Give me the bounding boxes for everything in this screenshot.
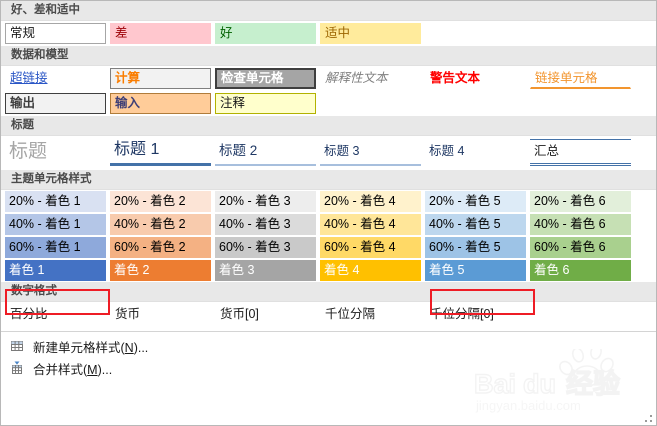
- style-good-label: 好: [215, 23, 316, 44]
- menu-new-cell-style-suffix: )...: [134, 341, 149, 355]
- cell-styles-gallery: 好、差和适中 常规 差 好 适中 数据和模型 超链接 计算 检查单元格 解释性文…: [0, 0, 657, 426]
- style-comma-0-label: 千位分隔[0]: [425, 304, 526, 325]
- section-header-good-bad-neutral: 好、差和适中: [1, 1, 656, 21]
- menu-merge-styles-accesskey: M: [87, 363, 97, 377]
- watermark-url: jingyan.baidu.com: [475, 398, 581, 413]
- style-cell-heading-3[interactable]: 标题 3: [320, 139, 421, 166]
- style-heading-4-label: 标题 4: [425, 139, 526, 166]
- style-heading-2-label: 标题 2: [215, 139, 316, 166]
- style-cell-explanatory-text[interactable]: 解释性文本: [320, 68, 421, 89]
- accent-row-2: 40% - 着色 140% - 着色 240% - 着色 340% - 着色 4…: [1, 213, 656, 236]
- accent-cell-3-5[interactable]: 60% - 着色 5: [425, 237, 526, 258]
- style-cell-bad[interactable]: 差: [110, 23, 211, 44]
- style-cell-check-cell[interactable]: 检查单元格: [215, 68, 316, 89]
- style-row-good-bad-neutral: 常规 差 好 适中: [1, 21, 656, 46]
- resize-grip[interactable]: [645, 415, 653, 423]
- style-note-label: 注释: [215, 93, 316, 114]
- style-output-label: 输出: [5, 93, 106, 114]
- accent-cell-2-1[interactable]: 40% - 着色 1: [5, 214, 106, 235]
- style-explanatory-text-label: 解释性文本: [320, 68, 421, 89]
- accent-cell-4-3[interactable]: 着色 3: [215, 260, 316, 281]
- accent-cell-2-4[interactable]: 40% - 着色 4: [320, 214, 421, 235]
- accent-row-3: 60% - 着色 160% - 着色 260% - 着色 360% - 着色 4…: [1, 236, 656, 259]
- style-total-label: 汇总: [530, 139, 631, 166]
- accent-style-grid: 20% - 着色 120% - 着色 220% - 着色 320% - 着色 4…: [1, 190, 656, 282]
- style-check-cell-label: 检查单元格: [215, 68, 316, 89]
- accent-cell-1-2[interactable]: 20% - 着色 2: [110, 191, 211, 212]
- accent-cell-4-2[interactable]: 着色 2: [110, 260, 211, 281]
- style-bad-label: 差: [110, 23, 211, 44]
- accent-cell-2-5[interactable]: 40% - 着色 5: [425, 214, 526, 235]
- style-input-label: 输入: [110, 93, 211, 114]
- accent-cell-4-1[interactable]: 着色 1: [5, 260, 106, 281]
- style-cell-heading-1[interactable]: 标题 1: [110, 139, 211, 166]
- style-cell-neutral[interactable]: 适中: [320, 23, 421, 44]
- style-calculation-label: 计算: [110, 68, 211, 89]
- style-cell-title[interactable]: 标题: [5, 139, 106, 166]
- accent-cell-2-2[interactable]: 40% - 着色 2: [110, 214, 211, 235]
- style-warning-text-label: 警告文本: [425, 68, 526, 89]
- style-cell-warning-text[interactable]: 警告文本: [425, 68, 526, 89]
- style-cell-good[interactable]: 好: [215, 23, 316, 44]
- menu-merge-styles-label: 合并样式(M)...: [33, 359, 112, 378]
- style-cell-calculation[interactable]: 计算: [110, 68, 211, 89]
- menu-merge-styles-suffix: )...: [98, 363, 113, 377]
- style-cell-linked-cell[interactable]: 链接单元格: [530, 68, 631, 89]
- style-cell-output[interactable]: 输出: [5, 93, 106, 114]
- accent-cell-3-3[interactable]: 60% - 着色 3: [215, 237, 316, 258]
- style-cell-currency-0[interactable]: 货币[0]: [215, 304, 316, 325]
- section-header-titles: 标题: [1, 116, 656, 136]
- style-cell-total[interactable]: 汇总: [530, 139, 631, 166]
- style-cell-heading-4[interactable]: 标题 4: [425, 139, 526, 166]
- style-linked-cell-label: 链接单元格: [530, 68, 631, 89]
- style-cell-hyperlink[interactable]: 超链接: [5, 68, 106, 89]
- style-normal-label: 常规: [5, 23, 106, 44]
- style-cell-input[interactable]: 输入: [110, 93, 211, 114]
- accent-cell-1-5[interactable]: 20% - 着色 5: [425, 191, 526, 212]
- menu-merge-styles-text: 合并样式(: [33, 363, 87, 377]
- style-cell-note[interactable]: 注释: [215, 93, 316, 114]
- accent-cell-1-4[interactable]: 20% - 着色 4: [320, 191, 421, 212]
- style-currency-label: 货币: [110, 304, 211, 325]
- style-cell-comma[interactable]: 千位分隔: [320, 304, 421, 325]
- style-currency-0-label: 货币[0]: [215, 304, 316, 325]
- accent-cell-3-6[interactable]: 60% - 着色 6: [530, 237, 631, 258]
- accent-cell-4-4[interactable]: 着色 4: [320, 260, 421, 281]
- accent-cell-3-1[interactable]: 60% - 着色 1: [5, 237, 106, 258]
- accent-cell-4-6[interactable]: 着色 6: [530, 260, 631, 281]
- menu-new-cell-style-label: 新建单元格样式(N)...: [33, 337, 148, 356]
- style-heading-1-label: 标题 1: [110, 139, 211, 166]
- style-heading-3-label: 标题 3: [320, 139, 421, 166]
- style-comma-label: 千位分隔: [320, 304, 421, 325]
- menu-merge-styles[interactable]: 合并样式(M)...: [1, 357, 656, 379]
- style-cell-heading-2[interactable]: 标题 2: [215, 139, 316, 166]
- accent-cell-1-3[interactable]: 20% - 着色 3: [215, 191, 316, 212]
- style-neutral-label: 适中: [320, 23, 421, 44]
- style-cell-percent[interactable]: 百分比: [5, 304, 106, 325]
- accent-cell-2-3[interactable]: 40% - 着色 3: [215, 214, 316, 235]
- style-hyperlink-label: 超链接: [5, 68, 106, 89]
- style-row-data-model-1: 超链接 计算 检查单元格 解释性文本 警告文本 链接单元格: [1, 66, 656, 91]
- style-cell-normal[interactable]: 常规: [5, 23, 106, 44]
- gallery-menu: 新建单元格样式(N)... 合并样式(M)...: [1, 332, 656, 379]
- accent-cell-1-6[interactable]: 20% - 着色 6: [530, 191, 631, 212]
- style-row-data-model-2: 输出 输入 注释: [1, 91, 656, 116]
- accent-cell-2-6[interactable]: 40% - 着色 6: [530, 214, 631, 235]
- menu-new-cell-style-accesskey: N: [125, 341, 134, 355]
- section-header-themed-cell-styles: 主题单元格样式: [1, 170, 656, 190]
- style-title-label: 标题: [5, 139, 106, 166]
- accent-cell-3-4[interactable]: 60% - 着色 4: [320, 237, 421, 258]
- accent-cell-4-5[interactable]: 着色 5: [425, 260, 526, 281]
- new-cell-style-icon: [10, 339, 24, 353]
- menu-new-cell-style-text: 新建单元格样式(: [33, 341, 125, 355]
- accent-cell-3-2[interactable]: 60% - 着色 2: [110, 237, 211, 258]
- style-percent-label: 百分比: [5, 304, 106, 325]
- style-row-titles: 标题 标题 1 标题 2 标题 3 标题 4 汇总: [1, 136, 656, 170]
- merge-styles-icon: [10, 361, 24, 375]
- accent-row-1: 20% - 着色 120% - 着色 220% - 着色 320% - 着色 4…: [1, 190, 656, 213]
- accent-cell-1-1[interactable]: 20% - 着色 1: [5, 191, 106, 212]
- style-row-number-format: 百分比 货币 货币[0] 千位分隔 千位分隔[0]: [1, 302, 656, 327]
- section-header-data-and-model: 数据和模型: [1, 46, 656, 66]
- menu-new-cell-style[interactable]: 新建单元格样式(N)...: [1, 335, 656, 357]
- style-cell-currency[interactable]: 货币: [110, 304, 211, 325]
- accent-row-4: 着色 1着色 2着色 3着色 4着色 5着色 6: [1, 259, 656, 282]
- style-cell-comma-0[interactable]: 千位分隔[0]: [425, 304, 526, 325]
- section-header-number-format: 数字格式: [1, 282, 656, 302]
